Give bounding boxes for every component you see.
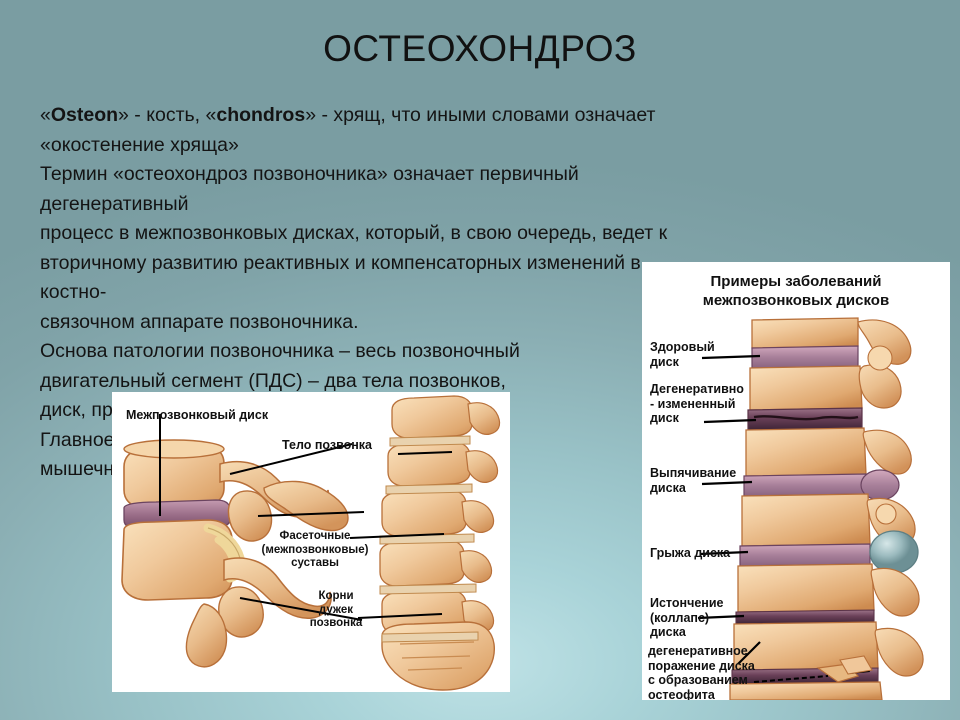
label-degenerative-line2: - измененный: [650, 397, 756, 412]
quote-open: «: [40, 104, 51, 126]
label-osteophyte: дегенеративное поражение диска с образов…: [648, 644, 770, 700]
term-osteon: Osteon: [51, 104, 118, 126]
figure-disc-diseases: Примеры заболеваний межпозвонковых диско…: [642, 262, 950, 700]
label-collapsed-disc: Истончение (коллапс) диска: [650, 596, 742, 640]
page-title: ОСТЕОХОНДРОЗ: [0, 28, 960, 70]
label-osteophyte-line4: остеофита: [648, 688, 770, 701]
body-paragraph-1: «Osteon» - кость, «chondros» - хрящ, что…: [40, 101, 680, 131]
label-pedicle-line3: позвонка: [300, 617, 372, 631]
label-collapse-line2: (коллапс): [650, 611, 742, 626]
label-bulging-disc: Выпячивание диска: [650, 466, 754, 495]
label-vertebral-body: Тело позвонка: [282, 438, 402, 453]
label-degenerative-line3: диск: [650, 411, 756, 426]
label-osteophyte-line2: поражение диска: [648, 659, 770, 674]
label-facet-line2: (межпозвонковые): [250, 544, 380, 558]
figure-vertebral-segment: Межпозвонковый диск Тело позвонка Фасето…: [112, 392, 510, 692]
label-healthy-line2: диск: [650, 355, 726, 370]
label-pedicle-roots: Корни дужек позвонка: [300, 590, 372, 631]
body-paragraph-7: Основа патологии позвоночника – весь поз…: [40, 337, 680, 367]
term-chondros: chondros: [216, 104, 305, 126]
body-text-1b: » - кость, «: [118, 104, 216, 126]
label-pedicle-line2: дужек: [300, 604, 372, 618]
label-facet-line3: суставы: [250, 557, 380, 571]
presentation-slide: ОСТЕОХОНДРОЗ «Osteon» - кость, «chondros…: [0, 0, 960, 720]
body-paragraph-6: связочном аппарате позвоночника.: [40, 308, 680, 338]
label-collapse-line1: Истончение: [650, 596, 742, 611]
label-bulge-line2: диска: [650, 481, 754, 496]
label-healthy-disc: Здоровый диск: [650, 340, 726, 369]
body-paragraph-2: «окостенение хряща»: [40, 131, 680, 161]
label-healthy-line1: Здоровый: [650, 340, 726, 355]
label-degenerative-disc: Дегенеративно - измененный диск: [650, 382, 756, 426]
label-herniated-disc: Грыжа диска: [650, 546, 754, 561]
label-facet-line1: Фасеточные: [250, 530, 380, 544]
label-facet-joints: Фасеточные (межпозвонковые) суставы: [250, 530, 380, 571]
label-intervertebral-disc: Межпозвонковый диск: [126, 408, 326, 423]
label-bulge-line1: Выпячивание: [650, 466, 754, 481]
body-text-1d: » - хрящ, что иными словами означает: [305, 104, 655, 126]
label-pedicle-line1: Корни: [300, 590, 372, 604]
body-paragraph-4: процесс в межпозвонковых дисках, который…: [40, 219, 680, 249]
label-degenerative-line1: Дегенеративно: [650, 382, 756, 397]
body-paragraph-3: Термин «остеохондроз позвоночника» означ…: [40, 160, 680, 219]
body-paragraph-5: вторичному развитию реактивных и компенс…: [40, 249, 680, 308]
label-osteophyte-line1: дегенеративное: [648, 644, 770, 659]
label-osteophyte-line3: с образованием: [648, 673, 770, 688]
label-collapse-line3: диска: [650, 625, 742, 640]
